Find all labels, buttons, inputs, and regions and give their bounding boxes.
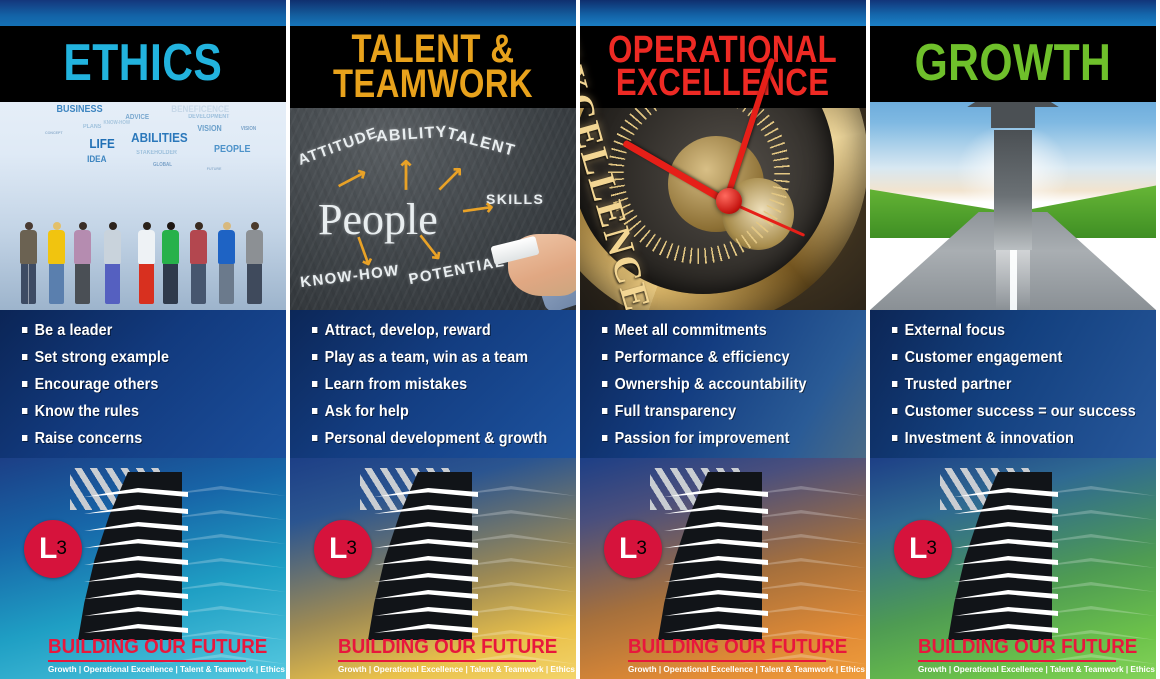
values-poster-board: GLOBAL ETHICS FAIRNESS SHARES PHILOSOPHY…	[0, 0, 1160, 679]
l3-building-our-future-logo: L3 BUILDING OUR FUTURE Growth | Operatio…	[604, 468, 794, 658]
list-item: Ownership & accountability	[602, 376, 831, 394]
logo-tagline: Growth | Operational Excellence | Talent…	[48, 664, 240, 674]
road-riser	[994, 130, 1031, 250]
list-item: Play as a team, win as a team	[312, 349, 541, 367]
logo-rule	[48, 660, 246, 662]
bullet-square-icon	[892, 354, 897, 360]
l3-building-our-future-logo: L3 BUILDING OUR FUTURE Growth | Operatio…	[894, 468, 1084, 658]
bullet-text: Meet all commitments	[615, 322, 767, 340]
panel-top-strip	[580, 0, 866, 26]
bullet-text: Set strong example	[35, 349, 169, 367]
logo-rule	[628, 660, 826, 662]
bullet-text: Play as a team, win as a team	[325, 349, 529, 367]
bullet-text: Attract, develop, reward	[325, 322, 491, 340]
logo-tagline: Growth | Operational Excellence | Talent…	[628, 664, 820, 674]
logo-rule	[338, 660, 536, 662]
l3-letter: L	[329, 534, 346, 564]
logo-headline: BUILDING OUR FUTURE	[338, 636, 526, 659]
title-band: TALENT & TEAMWORK	[290, 26, 576, 108]
panel-operational-excellence: EXCELLENCE OPERATIONAL EXCELLENCE Meet a…	[580, 0, 866, 679]
l3-superscript: 3	[56, 538, 67, 560]
arrow-icon-up-left: ⟶	[332, 160, 372, 198]
list-item: Be a leader	[22, 322, 251, 340]
bullet-square-icon	[312, 327, 317, 333]
bullet-text: Personal development & growth	[325, 430, 548, 448]
logo-footer: L3 BUILDING OUR FUTURE Growth | Operatio…	[290, 458, 576, 679]
building-our-future-lockup: BUILDING OUR FUTURE Growth | Operational…	[338, 636, 538, 674]
logo-tagline: Growth | Operational Excellence | Talent…	[338, 664, 530, 674]
l3-superscript: 3	[346, 538, 357, 560]
bullet-text: External focus	[905, 322, 1006, 340]
list-item: Know the rules	[22, 403, 251, 421]
list-item: Personal development & growth	[312, 430, 541, 448]
logo-rule	[918, 660, 1116, 662]
bullet-text: Customer engagement	[905, 349, 1063, 367]
arrow-icon-up: ⟶	[393, 159, 419, 191]
chalk-word-talent: TALENT	[445, 125, 518, 161]
bullet-square-icon	[602, 381, 607, 387]
list-item: Investment & innovation	[892, 430, 1121, 448]
people-illustration	[0, 212, 286, 310]
panel-top-strip	[870, 0, 1156, 26]
building-our-future-lockup: BUILDING OUR FUTURE Growth | Operational…	[48, 636, 248, 674]
bullet-list-growth: External focus Customer engagement Trust…	[870, 310, 1156, 458]
list-item: Passion for improvement	[602, 430, 831, 448]
panel-title: GROWTH	[915, 41, 1112, 87]
bullet-list-talent-teamwork: Attract, develop, reward Play as a team,…	[290, 310, 576, 458]
panel-ethics: GLOBAL ETHICS FAIRNESS SHARES PHILOSOPHY…	[0, 0, 286, 679]
bullet-square-icon	[312, 381, 317, 387]
logo-headline: BUILDING OUR FUTURE	[918, 636, 1106, 659]
bullet-square-icon	[22, 381, 27, 387]
list-item: Customer engagement	[892, 349, 1121, 367]
list-item: Customer success = our success	[892, 403, 1121, 421]
list-item: Raise concerns	[22, 430, 251, 448]
panel-title: ETHICS	[64, 41, 223, 87]
hand-with-chalk	[490, 208, 576, 304]
bullet-square-icon	[602, 435, 607, 441]
l3-roundel-icon: L3	[24, 520, 82, 578]
l3-roundel-icon: L3	[894, 520, 952, 578]
title-band: OPERATIONAL EXCELLENCE	[580, 26, 866, 108]
l3-letter: L	[909, 534, 926, 564]
logo-footer: L3 BUILDING OUR FUTURE Growth | Operatio…	[870, 458, 1156, 679]
bullet-square-icon	[312, 354, 317, 360]
l3-building-our-future-logo: L3 BUILDING OUR FUTURE Growth | Operatio…	[314, 468, 504, 658]
bullet-square-icon	[312, 408, 317, 414]
bullet-square-icon	[892, 327, 897, 333]
building-our-future-lockup: BUILDING OUR FUTURE Growth | Operational…	[628, 636, 828, 674]
bullet-square-icon	[602, 327, 607, 333]
logo-tower-mark	[368, 472, 472, 640]
panel-growth: GROWTH External focus Customer engagemen…	[870, 0, 1156, 679]
bullet-text: Passion for improvement	[615, 430, 790, 448]
panel-title: OPERATIONAL EXCELLENCE	[609, 34, 838, 101]
bullet-square-icon	[602, 408, 607, 414]
list-item: Encourage others	[22, 376, 251, 394]
chalk-word-ability: ABILITY	[375, 124, 448, 147]
list-item: External focus	[892, 322, 1121, 340]
list-item: Performance & efficiency	[602, 349, 831, 367]
building-our-future-lockup: BUILDING OUR FUTURE Growth | Operational…	[918, 636, 1118, 674]
bullet-square-icon	[22, 435, 27, 441]
bullet-text: Raise concerns	[35, 430, 143, 448]
chalk-word-knowhow: KNOW-HOW	[299, 262, 400, 291]
watch-pivot	[716, 188, 742, 214]
l3-roundel-icon: L3	[604, 520, 662, 578]
bullet-text: Customer success = our success	[905, 403, 1136, 421]
logo-tagline: Growth | Operational Excellence | Talent…	[918, 664, 1110, 674]
bullet-square-icon	[22, 327, 27, 333]
list-item: Full transparency	[602, 403, 831, 421]
chalk-word-skills: SKILLS	[486, 191, 544, 207]
bullet-text: Know the rules	[35, 403, 139, 421]
title-band: GROWTH	[870, 26, 1156, 102]
list-item: Trusted partner	[892, 376, 1121, 394]
panel-title: TALENT & TEAMWORK	[333, 32, 533, 102]
l3-building-our-future-logo: L3 BUILDING OUR FUTURE Growth | Operatio…	[24, 468, 214, 658]
title-band: ETHICS	[0, 26, 286, 102]
chalk-word-attitude: ATTITUDE	[296, 124, 381, 169]
list-item: Meet all commitments	[602, 322, 831, 340]
bullet-text: Ownership & accountability	[615, 376, 807, 394]
bullet-list-ethics: Be a leader Set strong example Encourage…	[0, 310, 286, 458]
list-item: Learn from mistakes	[312, 376, 541, 394]
l3-superscript: 3	[926, 538, 937, 560]
bullet-square-icon	[22, 408, 27, 414]
bullet-text: Full transparency	[615, 403, 737, 421]
panel-top-strip	[0, 0, 286, 26]
logo-headline: BUILDING OUR FUTURE	[628, 636, 816, 659]
bullet-text: Learn from mistakes	[325, 376, 468, 394]
bullet-text: Investment & innovation	[905, 430, 1074, 448]
list-item: Set strong example	[22, 349, 251, 367]
logo-footer: L3 BUILDING OUR FUTURE Growth | Operatio…	[580, 458, 866, 679]
l3-superscript: 3	[636, 538, 647, 560]
panel-top-strip	[290, 0, 576, 26]
l3-letter: L	[619, 534, 636, 564]
bullet-text: Performance & efficiency	[615, 349, 790, 367]
bullet-text: Be a leader	[35, 322, 113, 340]
logo-tower-mark	[78, 472, 182, 640]
bullet-list-operational-excellence: Meet all commitments Performance & effic…	[580, 310, 866, 458]
panel-talent-teamwork: ATTITUDE ABILITY TALENT SKILLS People KN…	[290, 0, 576, 679]
bullet-text: Trusted partner	[905, 376, 1012, 394]
bullet-square-icon	[892, 408, 897, 414]
bullet-text: Encourage others	[35, 376, 159, 394]
logo-footer: L3 BUILDING OUR FUTURE Growth | Operatio…	[0, 458, 286, 679]
bullet-square-icon	[892, 435, 897, 441]
logo-tower-mark	[948, 472, 1052, 640]
bullet-text: Ask for help	[325, 403, 409, 421]
l3-roundel-icon: L3	[314, 520, 372, 578]
bullet-square-icon	[892, 381, 897, 387]
list-item: Attract, develop, reward	[312, 322, 541, 340]
l3-letter: L	[39, 534, 56, 564]
logo-tower-mark	[658, 472, 762, 640]
list-item: Ask for help	[312, 403, 541, 421]
bullet-square-icon	[312, 435, 317, 441]
bullet-square-icon	[602, 354, 607, 360]
logo-headline: BUILDING OUR FUTURE	[48, 636, 236, 659]
bullet-square-icon	[22, 354, 27, 360]
